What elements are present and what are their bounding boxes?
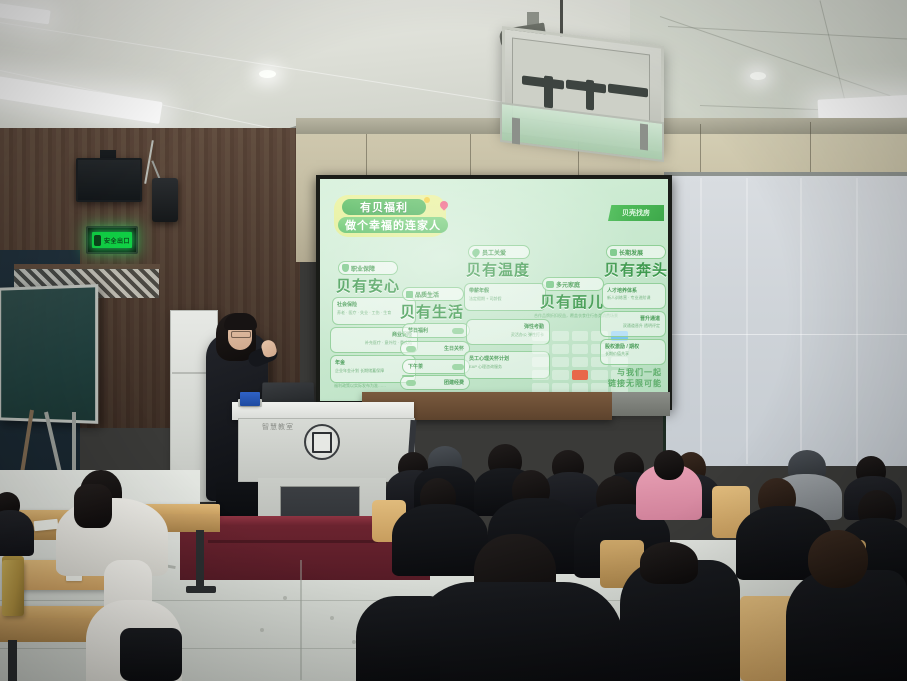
slide-col-heading-4: 贝有面儿 [540, 291, 604, 312]
slide-col-tag-1: 职业保障 [338, 261, 398, 275]
blackboard [0, 284, 98, 424]
slide-col-heading-1: 贝有安心 [336, 275, 400, 296]
thermos-bottle [2, 560, 24, 616]
partner-logo [532, 370, 549, 380]
wall-joint [470, 134, 471, 178]
exit-sign-label: 安全出口 [104, 236, 130, 245]
slide-footer-line1: 与我们一起 [570, 367, 662, 378]
slide-card: 股权激励 / 期权 长期价值共享 [600, 339, 666, 365]
partner-logo [532, 344, 549, 354]
desk-foot [186, 586, 216, 593]
pill-chip [406, 346, 416, 352]
slide-brand-badge: 贝壳找房 [608, 205, 664, 221]
university-emblem [304, 424, 340, 460]
partner-logo [572, 331, 589, 341]
slide-col-tag-5: 长期发展 [606, 245, 666, 259]
emergency-exit-sign: 安全出口 [86, 226, 138, 254]
floor-tile-line [300, 560, 302, 680]
partner-logo [552, 344, 569, 354]
slide-col-tag-4: 多元家庭 [542, 277, 604, 291]
slide-pill-hidden [402, 375, 414, 377]
audience-head [654, 450, 684, 480]
slide-pill: 团建经费 [400, 375, 470, 390]
curtain-fold [700, 178, 702, 464]
audience-head-front [640, 542, 698, 584]
wall-joint [700, 124, 701, 176]
student-body [0, 510, 34, 556]
podium-label: 智慧教室 [262, 422, 294, 432]
audience-body-front [412, 582, 624, 681]
curtain-hem [666, 334, 907, 335]
partner-logo [552, 357, 569, 367]
wall-speaker [152, 178, 178, 222]
pill-chip [452, 364, 464, 370]
pill-chip [406, 380, 416, 386]
floor-fixing [283, 596, 287, 600]
curtain-fold [856, 178, 858, 464]
projection-screen: 贝壳找房 有贝福利 做个幸福的连家人 职业保障 贝有安心 社会保险 养老 · 医… [320, 179, 668, 401]
shield-icon [342, 264, 349, 272]
wall-joint [810, 122, 811, 176]
stage-shadow [208, 540, 378, 543]
partner-logo [572, 344, 589, 354]
window-curtain [666, 176, 907, 466]
dot-decoration-icon [424, 197, 430, 203]
emblem-inner-mark [312, 432, 332, 453]
desk-leg [196, 530, 204, 590]
exit-running-man-icon [94, 235, 101, 246]
floor-fixing [260, 628, 264, 632]
slide-card: 人才培养体系 新人训练营 · 专业进阶课 [602, 283, 666, 309]
slide-disclaimer: 福利政策以实际发布为准…… [334, 383, 386, 389]
desk-leg [8, 640, 17, 681]
audience-head-front [808, 530, 868, 588]
ceiling-spot-light [259, 70, 276, 78]
slide-col-tag-2: 品质生活 [402, 287, 464, 301]
slide-pill: 生日关怀 [400, 341, 470, 356]
bag-icon [546, 281, 554, 288]
slide-card: 带薪年假 法定假期 + 司龄假 [464, 283, 546, 311]
wall-monitor [76, 158, 142, 202]
student-bag [120, 628, 182, 681]
pill-chip [452, 328, 464, 334]
partner-logo [572, 357, 589, 367]
audience-body-front [356, 596, 440, 681]
slide-col-heading-2: 贝有生活 [400, 301, 464, 322]
partner-logo [552, 331, 569, 341]
house-icon [406, 291, 413, 298]
growth-icon [610, 249, 617, 256]
slide-col-heading-3: 贝有温度 [466, 259, 530, 280]
grille-frame [14, 264, 160, 269]
curtain-fold [746, 178, 748, 464]
heart-icon [471, 247, 482, 258]
slide-title-line1: 有贝福利 [342, 199, 426, 215]
podium-blue-card [240, 392, 260, 406]
slide-title-line2: 做个幸福的连家人 [338, 217, 448, 233]
floor-fixing [330, 616, 334, 620]
projector-clamp [640, 124, 648, 151]
slide-col-tag-3: 员工关爱 [468, 245, 530, 259]
presenter-glasses-icon [231, 331, 251, 338]
lecture-hall-photo: 安全出口 贝壳找房 有贝福利 做个幸福的连家人 [0, 0, 907, 681]
ceiling-spot-light [750, 72, 766, 80]
projector-bar [544, 75, 553, 108]
back-table-right [612, 392, 670, 416]
curtain-fold [800, 178, 802, 464]
slide-footer-line2: 链接无限可能 [564, 378, 662, 389]
projector-clamp [512, 118, 520, 145]
slide-col-heading-5: 贝有奔头 [604, 259, 668, 280]
presenter-hair-front [224, 313, 257, 330]
partner-logo [532, 331, 549, 341]
slide-card: 晋升通道 双通道晋升 透明评定 [600, 311, 666, 337]
partner-logo [532, 357, 549, 367]
projector-bar [586, 80, 594, 111]
slide-pill: 下午茶 [402, 359, 470, 374]
student-hair [74, 484, 112, 528]
slide-pill: 节日福利 [402, 323, 470, 338]
